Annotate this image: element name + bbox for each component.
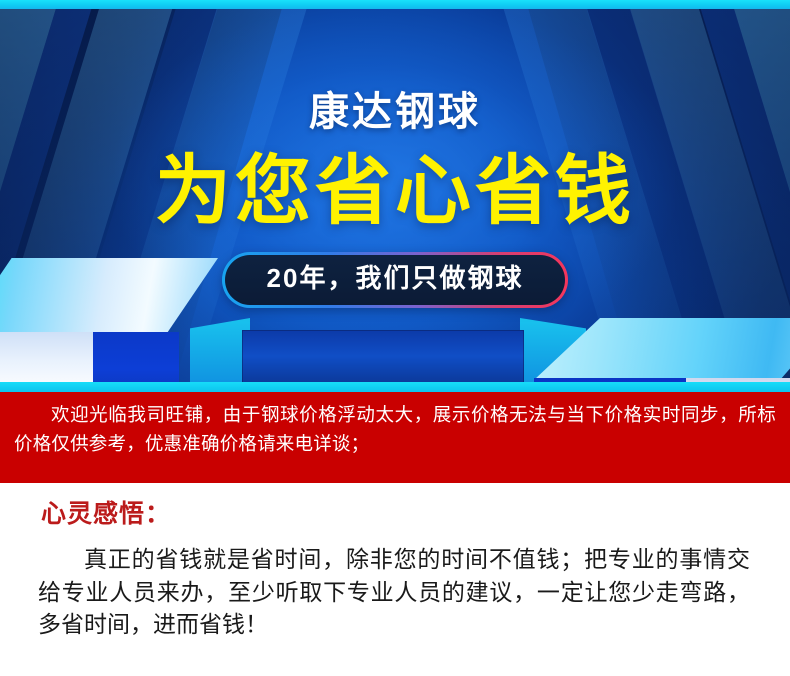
insight-section: 心灵感悟： 真正的省钱就是省时间，除非您的时间不值钱；把专业的事情交给专业人员来… — [0, 483, 790, 676]
promo-page: 康达钢球 为您省心省钱 20年，我们只做钢球 欢迎光临我司旺铺，由于钢球价格浮动… — [0, 0, 790, 676]
notice-text: 欢迎光临我司旺铺，由于钢球价格浮动太大，展示价格无法与当下价格实时同步，所标价格… — [14, 401, 776, 458]
hero-headline: 为您省心省钱 — [155, 154, 635, 230]
slogan-pill-badge: 20年，我们只做钢球 — [222, 252, 569, 308]
hero-text-stack: 康达钢球 为您省心省钱 20年，我们只做钢球 — [0, 0, 790, 392]
hero-banner: 康达钢球 为您省心省钱 20年，我们只做钢球 — [0, 0, 790, 392]
brand-title: 康达钢球 — [309, 92, 481, 132]
insight-heading: 心灵感悟： — [41, 499, 756, 529]
insight-body-text: 真正的省钱就是省时间，除非您的时间不值钱；把专业的事情交给专业人员来办，至少听取… — [34, 543, 756, 641]
slogan-text: 20年，我们只做钢球 — [225, 255, 566, 305]
notice-banner: 欢迎光临我司旺铺，由于钢球价格浮动太大，展示价格无法与当下价格实时同步，所标价格… — [0, 392, 790, 483]
